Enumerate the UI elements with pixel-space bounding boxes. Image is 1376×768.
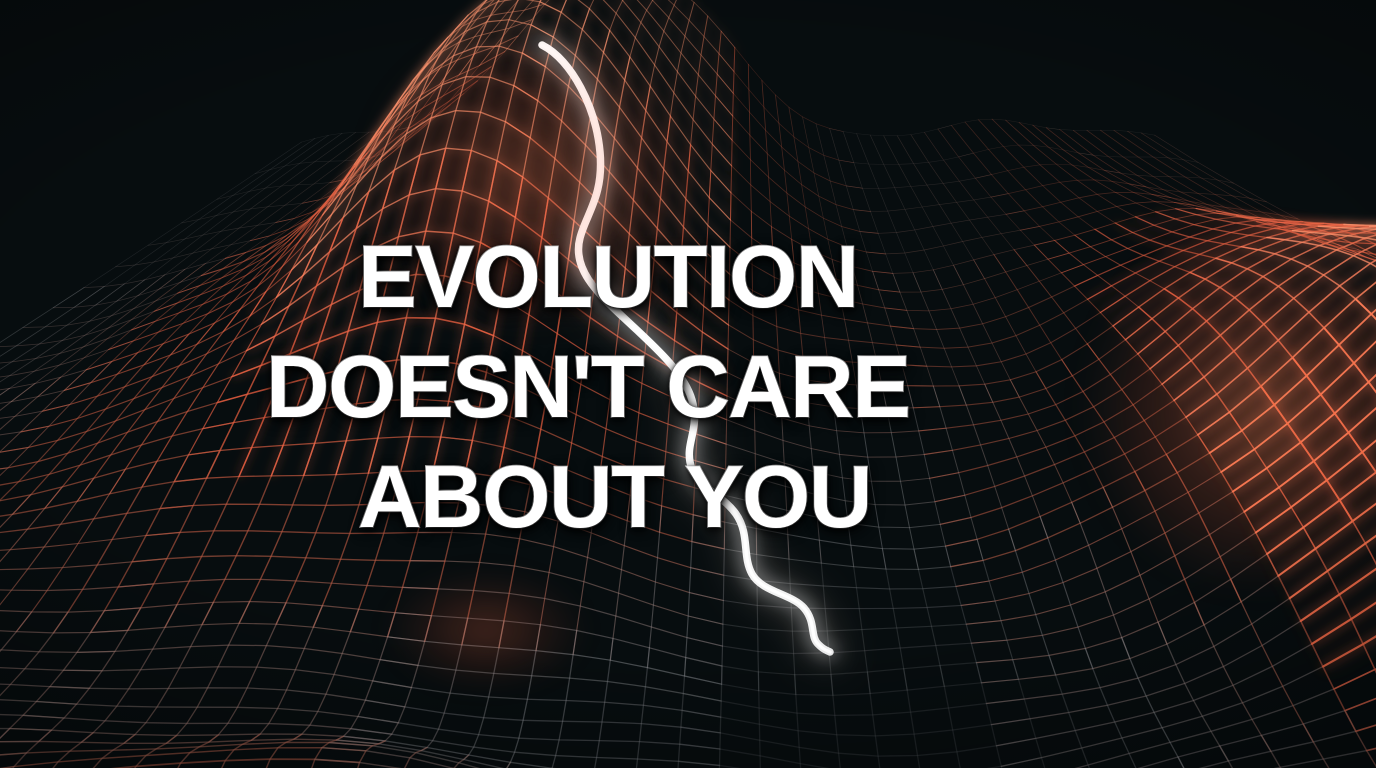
wireframe-terrain-art [0,0,1376,768]
poster-canvas: EVOLUTION DOESN'T CARE ABOUT YOU [0,0,1376,768]
